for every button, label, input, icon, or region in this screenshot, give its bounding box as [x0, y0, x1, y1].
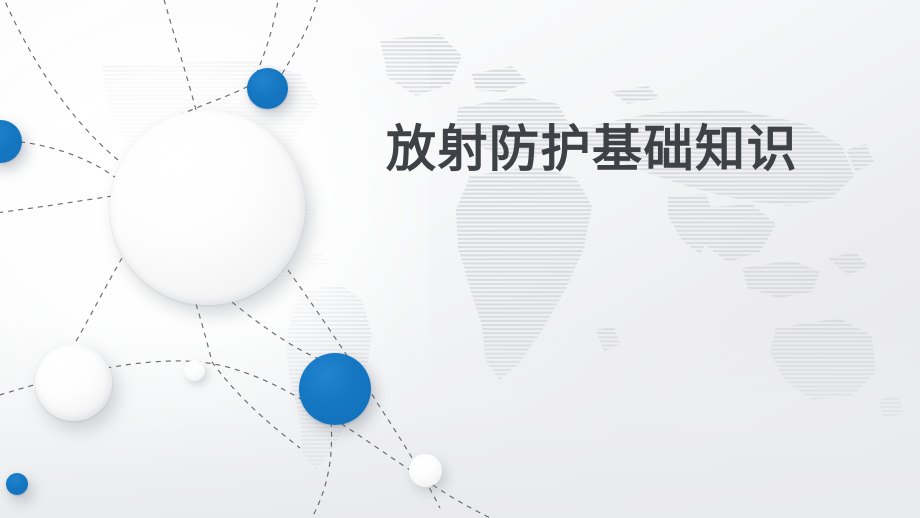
white-node-small-1 [184, 360, 205, 381]
blue-node-corner [6, 473, 28, 495]
connector-line [0, 196, 112, 214]
connector-line [20, 142, 116, 178]
title-block: 放射防护基础知识 [386, 120, 856, 179]
connector-line [282, 0, 320, 74]
blue-node-large [299, 353, 371, 425]
hub-circle [110, 110, 305, 305]
white-node-left [35, 344, 112, 421]
blue-node-edge-left [0, 120, 22, 163]
page-title: 放射防护基础知识 [386, 120, 856, 179]
bottom-shadow-wash [0, 318, 920, 518]
blue-node-top [247, 68, 288, 109]
white-node-small-2 [409, 454, 442, 487]
connector-line [196, 304, 300, 448]
connector-line [162, 0, 196, 110]
presentation-slide: 放射防护基础知识 [0, 0, 920, 518]
